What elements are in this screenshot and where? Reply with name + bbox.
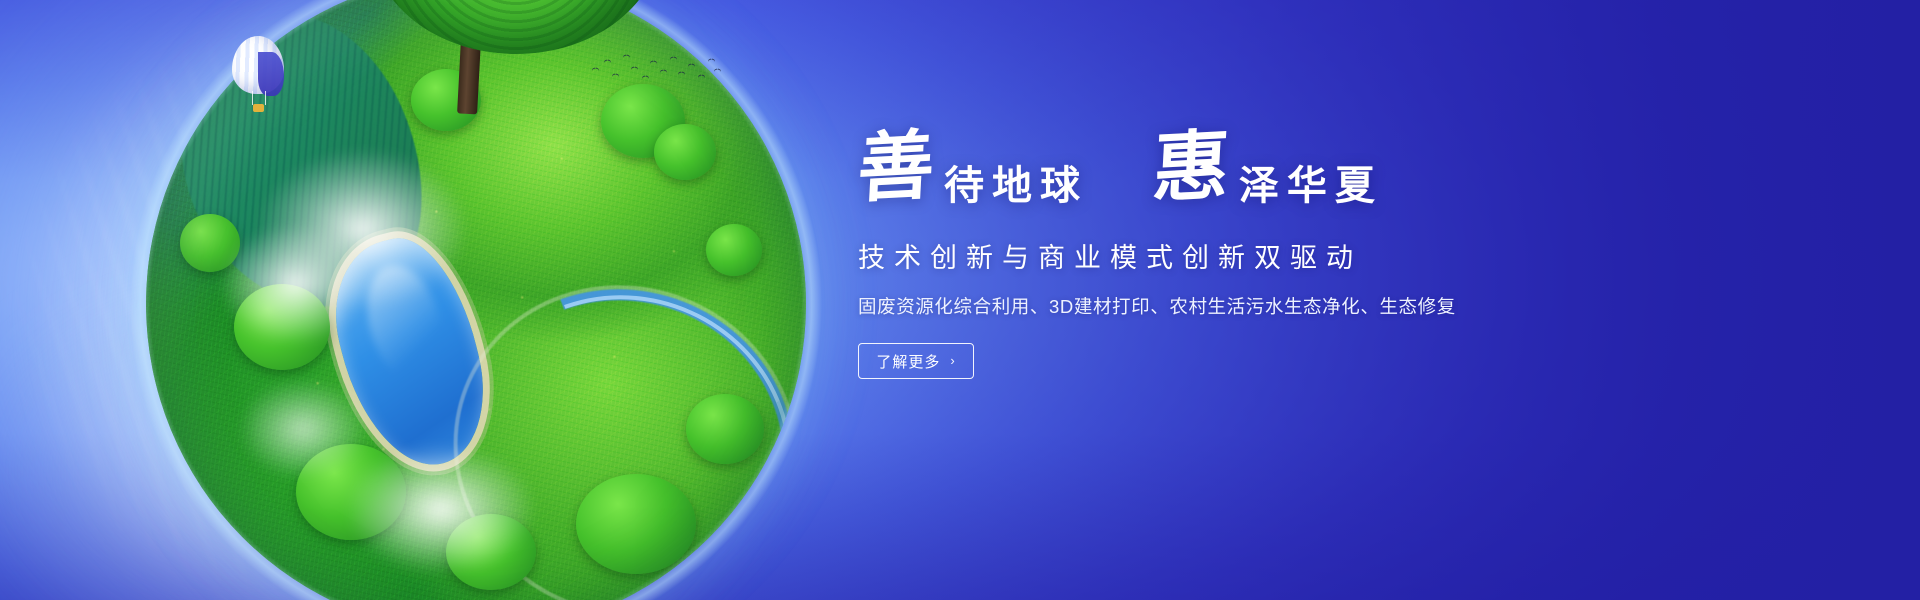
bird-icon — [714, 69, 721, 73]
headline-phrase-1-rest: 待地球 — [944, 143, 1088, 229]
bird-icon — [670, 57, 677, 61]
headline-phrase-2: 惠泽华夏 — [1153, 124, 1383, 223]
headline-phrase-2-lead: 惠 — [1150, 122, 1231, 212]
bird-icon — [604, 60, 611, 64]
bird-icon — [698, 75, 705, 79]
page-title: 善待地球 惠泽华夏 — [858, 124, 1558, 220]
description-text: 固废资源化综合利用、3D建材打印、农村生活污水生态净化、生态修复 — [858, 293, 1558, 319]
balloon-band — [258, 52, 284, 96]
hot-air-balloon-icon — [232, 36, 284, 114]
learn-more-button[interactable]: 了解更多 › — [858, 343, 974, 379]
bird-icon — [650, 61, 657, 65]
bird-icon — [592, 68, 599, 72]
bird-icon — [688, 64, 695, 68]
headline-phrase-1-lead: 善 — [856, 122, 937, 212]
bird-icon — [708, 59, 715, 63]
hero-copy: 善待地球 惠泽华夏 技术创新与商业模式创新双驱动 固废资源化综合利用、3D建材打… — [858, 124, 1558, 379]
bird-icon — [642, 76, 649, 80]
headline-phrase-1: 善待地球 — [858, 124, 1088, 223]
balloon-lines — [252, 91, 266, 105]
bird-icon — [631, 67, 638, 71]
bird-icon — [612, 74, 619, 78]
bird-icon — [623, 55, 630, 59]
sub-headline: 技术创新与商业模式创新双驱动 — [858, 236, 1558, 275]
learn-more-label: 了解更多 — [876, 351, 940, 372]
cta-row: 了解更多 › — [858, 343, 1558, 379]
balloon-basket — [253, 104, 264, 112]
bird-icon — [660, 70, 667, 74]
chevron-right-icon: › — [950, 353, 955, 368]
hero-banner: 善待地球 惠泽华夏 技术创新与商业模式创新双驱动 固废资源化综合利用、3D建材打… — [0, 0, 1920, 600]
headline-phrase-2-rest: 泽华夏 — [1239, 143, 1383, 229]
bird-icon — [678, 72, 685, 76]
bird-flock — [590, 48, 720, 90]
